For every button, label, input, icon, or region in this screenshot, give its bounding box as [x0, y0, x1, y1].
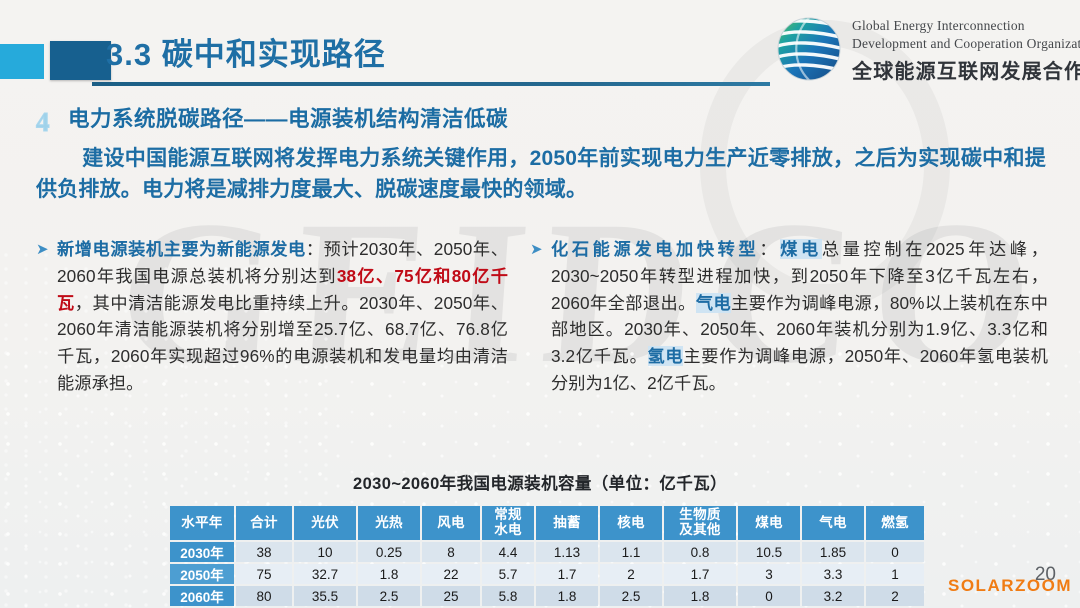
table-cell-1-8: 3: [738, 564, 800, 584]
table-cell-year: 2060年: [170, 586, 234, 606]
emphasis-highlight-1: 煤电: [780, 239, 822, 259]
text-run-2: ，其中清洁能源发电比重持续上升。2030年、2050年、2060年清洁能源装机将…: [57, 293, 508, 393]
table-cell-0-2: 0.25: [358, 542, 420, 562]
table-cell-2-8: 0: [738, 586, 800, 606]
left-paragraph-body: ：预计2030年、2050年、2060年我国电源总装机将分别达到38亿、75亿和…: [57, 239, 508, 393]
table-col-header-4: 风电: [422, 506, 480, 540]
section-title: 电力系统脱碳路径——电源装机结构清洁低碳: [68, 107, 508, 131]
logo-english-line-2: Development and Cooperation Organization: [852, 36, 1080, 52]
table-cell-1-9: 3.3: [802, 564, 864, 584]
section-block: 4 电力系统脱碳路径——电源装机结构清洁低碳 建设中国能源互联网将发挥电力系统关…: [36, 107, 1046, 205]
table-cell-0-8: 10.5: [738, 542, 800, 562]
table-row: 2060年8035.52.5255.81.82.51.803.22: [170, 586, 924, 606]
column-left: ➤ 新增电源装机主要为新能源发电：预计2030年、2050年、2060年我国电源…: [36, 236, 508, 397]
header-accent-square-blue: [50, 41, 111, 80]
table-cell-2-7: 1.8: [664, 586, 736, 606]
table-cell-0-10: 0: [866, 542, 924, 562]
slide-header: 3.3 碳中和实现路径: [0, 0, 1080, 98]
table-cell-2-2: 2.5: [358, 586, 420, 606]
table-cell-0-3: 8: [422, 542, 480, 562]
table-cell-2-10: 2: [866, 586, 924, 606]
table-col-header-6: 抽蓄: [536, 506, 598, 540]
content-columns: ➤ 新增电源装机主要为新能源发电：预计2030年、2050年、2060年我国电源…: [36, 236, 1048, 397]
table-cell-0-1: 10: [294, 542, 356, 562]
table-col-header-5: 常规水电: [482, 506, 534, 540]
table-col-header-3: 光热: [358, 506, 420, 540]
table-row: 2050年7532.71.8225.71.721.733.31: [170, 564, 924, 584]
table-cell-0-0: 38: [236, 542, 292, 562]
arrow-bullet-icon: ➤: [36, 236, 57, 262]
header-accent-square-cyan: [0, 44, 44, 79]
table-header-row: 水平年合计光伏光热风电常规水电抽蓄核电生物质及其他煤电气电燃氢: [170, 506, 924, 540]
table-cell-1-1: 32.7: [294, 564, 356, 584]
table-cell-0-6: 1.1: [600, 542, 662, 562]
table-row: 2030年38100.2584.41.131.10.810.51.850: [170, 542, 924, 562]
table-col-header-2: 光伏: [294, 506, 356, 540]
right-paragraph: 化石能源发电加快转型：煤电总量控制在2025年达峰，2030~2050年转型进程…: [551, 236, 1048, 397]
table-col-header-11: 燃氢: [866, 506, 924, 540]
table-cell-0-4: 4.4: [482, 542, 534, 562]
organization-logo: Global Energy Interconnection Developmen…: [768, 12, 1068, 84]
table-cell-1-10: 1: [866, 564, 924, 584]
slide-canvas: GEIDCO 3.3 碳中和实现路径: [0, 0, 1080, 608]
table-cell-year: 2050年: [170, 564, 234, 584]
table-cell-0-5: 1.13: [536, 542, 598, 562]
globe-icon: [776, 16, 842, 82]
header-divider: [92, 82, 770, 86]
table-cell-2-3: 25: [422, 586, 480, 606]
emphasis-highlight-5: 氢电: [648, 346, 684, 366]
table-cell-2-1: 35.5: [294, 586, 356, 606]
right-paragraph-body: ：煤电总量控制在2025年达峰，2030~2050年转型进程加快，到2050年下…: [551, 239, 1048, 393]
table-cell-1-4: 5.7: [482, 564, 534, 584]
table-col-header-8: 生物质及其他: [664, 506, 736, 540]
table-col-header-7: 核电: [600, 506, 662, 540]
table-cell-0-9: 1.85: [802, 542, 864, 562]
table-caption: 2030~2060年我国电源装机容量（单位：亿千瓦）: [0, 470, 1080, 494]
section-body-text: 建设中国能源互联网将发挥电力系统关键作用，2050年前实现电力生产近零排放，之后…: [36, 143, 1046, 205]
table-cell-1-7: 1.7: [664, 564, 736, 584]
logo-chinese-name: 全球能源互联网发展合作组织: [852, 55, 1080, 84]
table-cell-1-2: 1.8: [358, 564, 420, 584]
left-paragraph: 新增电源装机主要为新能源发电：预计2030年、2050年、2060年我国电源总装…: [57, 236, 508, 397]
right-paragraph-lead: 化石能源发电加快转型: [551, 239, 759, 259]
table-cell-0-7: 0.8: [664, 542, 736, 562]
left-paragraph-lead: 新增电源装机主要为新能源发电: [57, 239, 306, 259]
logo-english-line-1: Global Energy Interconnection: [852, 18, 1025, 34]
table-cell-1-6: 2: [600, 564, 662, 584]
table-col-header-10: 气电: [802, 506, 864, 540]
section-number: 4: [36, 107, 68, 136]
table-cell-2-6: 2.5: [600, 586, 662, 606]
column-right: ➤ 化石能源发电加快转型：煤电总量控制在2025年达峰，2030~2050年转型…: [530, 236, 1048, 397]
solarzoom-watermark: SOLARZOOM: [948, 576, 1072, 596]
table-cell-2-0: 80: [236, 586, 292, 606]
table-cell-2-5: 1.8: [536, 586, 598, 606]
emphasis-highlight-3: 气电: [696, 293, 731, 313]
text-run-0: ：: [759, 239, 780, 259]
table-cell-1-0: 75: [236, 564, 292, 584]
arrow-bullet-icon: ➤: [530, 236, 551, 262]
page-title: 3.3 碳中和实现路径: [106, 29, 386, 74]
table-cell-year: 2030年: [170, 542, 234, 562]
table-cell-1-3: 22: [422, 564, 480, 584]
capacity-table: 水平年合计光伏光热风电常规水电抽蓄核电生物质及其他煤电气电燃氢 2030年381…: [168, 504, 926, 608]
table-cell-2-9: 3.2: [802, 586, 864, 606]
table-body: 2030年38100.2584.41.131.10.810.51.8502050…: [170, 542, 924, 606]
table-col-header-9: 煤电: [738, 506, 800, 540]
table-col-header-1: 合计: [236, 506, 292, 540]
table-cell-2-4: 5.8: [482, 586, 534, 606]
table-col-header-0: 水平年: [170, 506, 234, 540]
table-cell-1-5: 1.7: [536, 564, 598, 584]
